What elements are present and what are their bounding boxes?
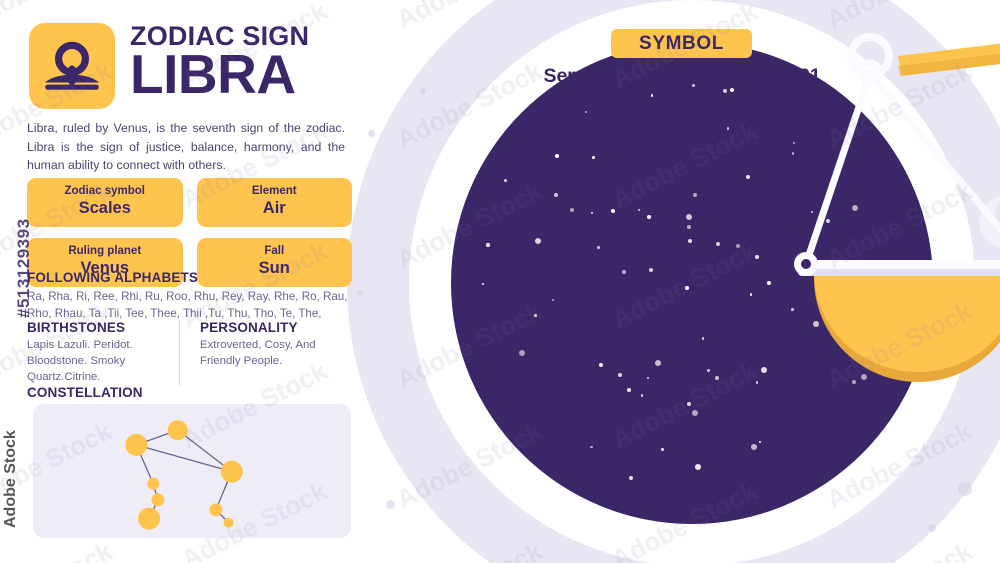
libra-logo-tile (29, 23, 115, 109)
watermark-corner: Adobe Stock (2, 430, 20, 528)
watermark-id: #513129393 (14, 218, 34, 318)
constellation-star (224, 518, 234, 528)
chip-label: Element (201, 185, 349, 198)
constellation-card (33, 404, 351, 538)
deco-dot (928, 524, 936, 532)
star (622, 270, 626, 274)
chip-zodiac-symbol[interactable]: Zodiac symbol Scales (27, 178, 183, 227)
page-title: LIBRA (130, 48, 370, 100)
chip-value: Air (201, 199, 349, 219)
star (688, 239, 692, 243)
deco-dot (958, 482, 972, 496)
deco-dot (420, 88, 426, 94)
star (649, 268, 653, 272)
constellation-star (138, 508, 160, 530)
star (687, 225, 691, 229)
star (570, 208, 574, 212)
chip-value: Scales (31, 199, 179, 219)
personality-section: PERSONALITY Extroverted, Cosy, And Frien… (179, 320, 339, 386)
constellation-star (168, 420, 188, 440)
birthstones-heading: BIRTHSTONES (27, 320, 169, 335)
constellation-star (151, 493, 164, 506)
personality-heading: PERSONALITY (200, 320, 339, 335)
constellation-star (209, 503, 222, 516)
chip-label: Zodiac symbol (31, 185, 179, 198)
alphabets-body: Ra, Rha, Ri, Ree, Rhi, Ru, Roo, Rhu, Rey… (27, 288, 349, 322)
birthstones-personality-row: BIRTHSTONES Lapis Lazuli. Peridot. Blood… (27, 320, 349, 386)
date-range-text: September 23 to November 21 (440, 65, 924, 88)
deco-dot (357, 290, 363, 296)
left-info-panel: ZODIAC SIGN LIBRA Libra, ruled by Venus,… (0, 0, 372, 563)
star (597, 246, 600, 249)
birthstones-section: BIRTHSTONES Lapis Lazuli. Peridot. Blood… (27, 320, 179, 386)
star (534, 314, 537, 317)
deco-dot (368, 130, 375, 137)
alphabets-heading: FOLLOWING ALPHABETS (27, 270, 349, 285)
following-alphabets-section: FOLLOWING ALPHABETS Ra, Rha, Ri, Ree, Rh… (27, 270, 349, 322)
birthstones-body: Lapis Lazuli. Peridot. Bloodstone. Smoky… (27, 337, 169, 386)
star (504, 179, 507, 182)
constellation-diagram (33, 404, 351, 538)
star (611, 209, 615, 213)
libra-glyph-icon (39, 33, 105, 99)
title-block: ZODIAC SIGN LIBRA (130, 22, 370, 101)
star (629, 476, 633, 480)
constellation-star (125, 434, 147, 456)
constellation-star (147, 478, 159, 490)
infographic-canvas: SYMBOL September 23 to November 21 ZODIA… (0, 0, 1000, 563)
star (687, 402, 691, 406)
star (641, 394, 644, 397)
constellation-star (221, 461, 243, 483)
chip-label: Ruling planet (31, 245, 179, 258)
constellation-link (136, 445, 231, 472)
chip-label: Fall (201, 245, 349, 258)
chip-element[interactable]: Element Air (197, 178, 353, 227)
star (651, 94, 654, 97)
constellation-heading: CONSTELLATION (27, 385, 143, 400)
star (592, 156, 595, 159)
star (686, 214, 692, 220)
description-text: Libra, ruled by Venus, is the seventh si… (27, 119, 345, 175)
star (590, 446, 593, 449)
symbol-badge-label: SYMBOL (639, 33, 724, 55)
deco-dot (386, 500, 395, 509)
personality-body: Extroverted, Cosy, And Friendly People. (200, 337, 339, 369)
star (486, 243, 490, 247)
star (661, 448, 664, 451)
symbol-badge: SYMBOL (611, 29, 752, 58)
chip-row: Zodiac symbol Scales Element Air (27, 178, 352, 227)
